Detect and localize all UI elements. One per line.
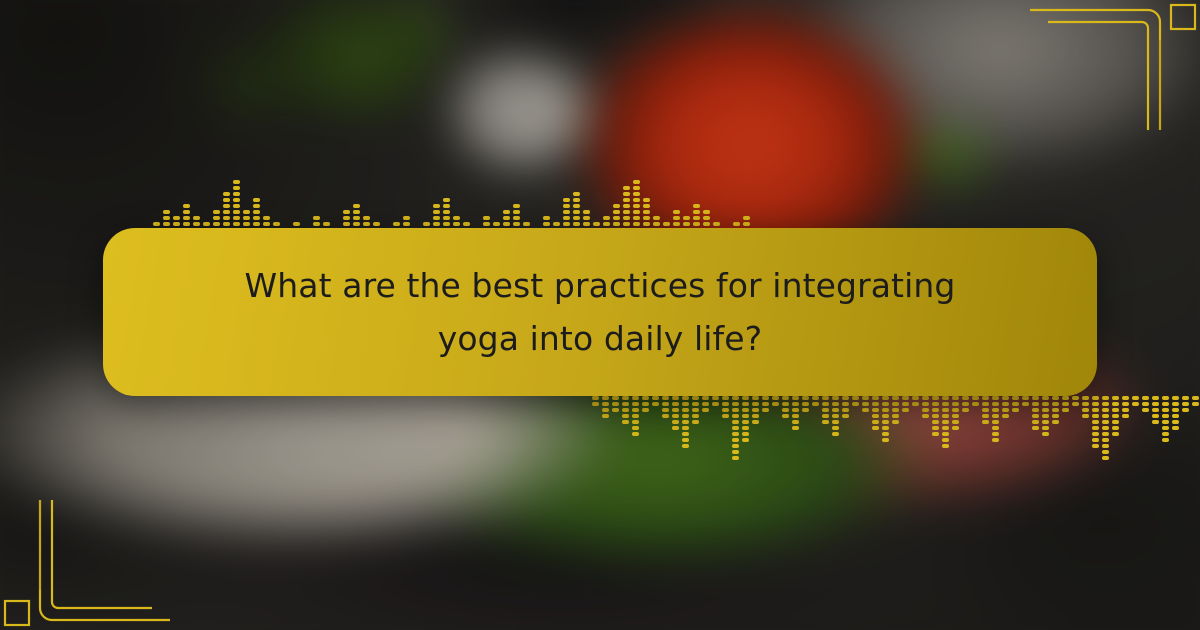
- poster-canvas: What are the best practices for integrat…: [0, 0, 1200, 630]
- question-text: What are the best practices for integrat…: [220, 259, 980, 366]
- question-card[interactable]: What are the best practices for integrat…: [103, 228, 1097, 396]
